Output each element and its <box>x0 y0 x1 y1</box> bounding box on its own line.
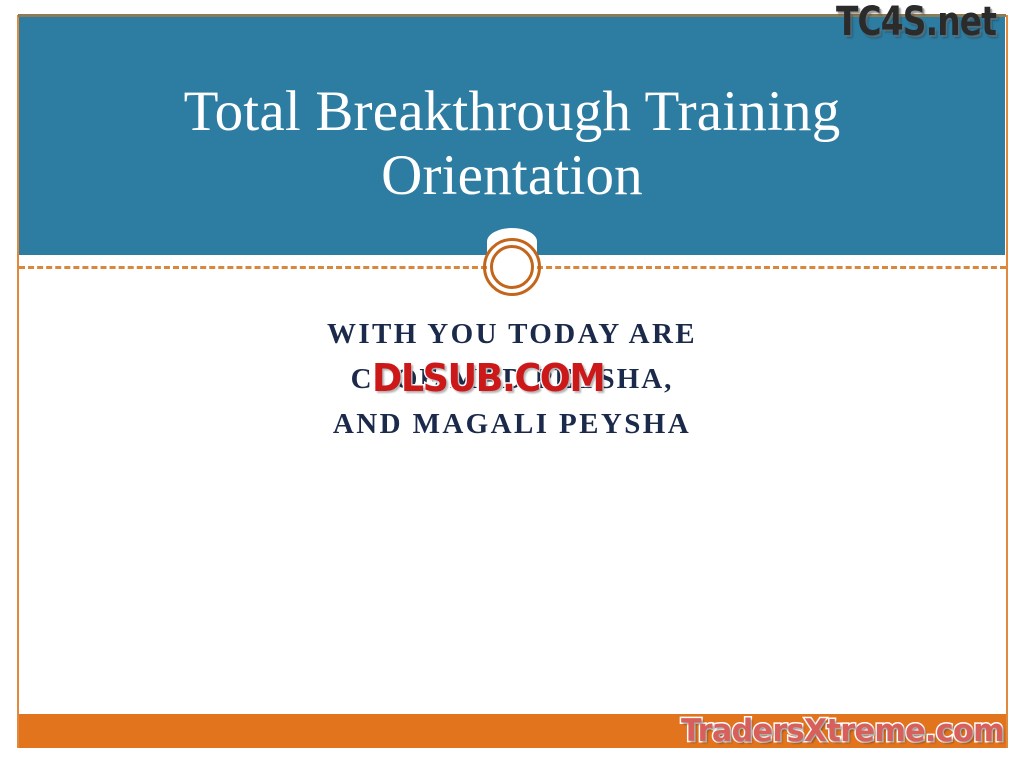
slide-frame-right-border <box>1006 15 1008 748</box>
subtitle-line-3: AND MAGALI PEYSHA <box>60 402 964 447</box>
watermark-dlsub: DLSUB.COM <box>372 358 604 398</box>
subtitle-line-1: WITH YOU TODAY ARE <box>60 312 964 357</box>
slide-title: Total Breakthrough Training Orientation <box>19 80 1005 208</box>
divider-dashed-left <box>19 266 487 269</box>
presentation-slide: Total Breakthrough Training Orientation … <box>0 0 1024 768</box>
divider-dashed-right <box>537 266 1006 269</box>
watermark-tc4s: TC4S.net <box>836 2 996 42</box>
watermark-tradersxtreme: TradersXtreme.com <box>681 714 1004 748</box>
ornament-inner-ring-icon <box>490 245 534 289</box>
